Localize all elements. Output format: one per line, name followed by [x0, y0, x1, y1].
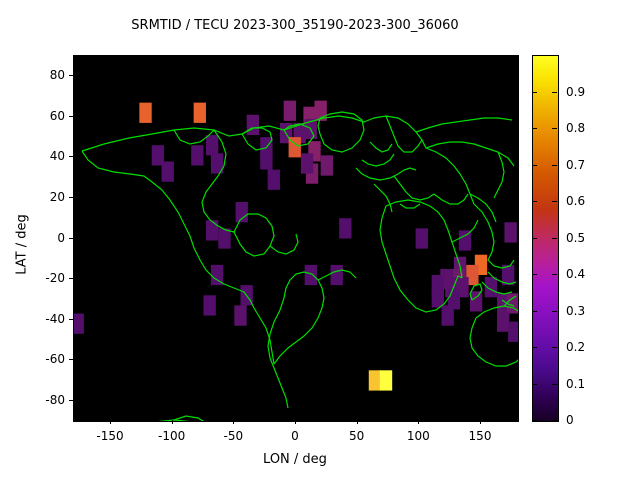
heatmap-cell	[234, 305, 246, 325]
x-axis-label: LON / deg	[73, 452, 517, 467]
colorbar-tick-mark	[552, 384, 557, 385]
heatmap-cell	[331, 265, 343, 285]
y-tick-label: 80	[23, 68, 65, 82]
x-tick-label: -100	[158, 429, 185, 443]
heatmap-cell	[470, 291, 482, 311]
x-tick-label: 150	[469, 429, 492, 443]
heatmap-cell	[416, 228, 428, 248]
colorbar-tick-mark	[532, 384, 537, 385]
colorbar-tick-label: 0.4	[566, 267, 585, 281]
heatmap-cell	[497, 312, 509, 332]
colorbar-tick-label: 0.3	[566, 304, 585, 318]
colorbar-tick-label: 0.2	[566, 340, 585, 354]
colorbar-tick-mark	[532, 165, 537, 166]
colorbar-tick-mark	[552, 274, 557, 275]
colorbar-tick-mark	[552, 311, 557, 312]
colorbar-tick-label: 0.1	[566, 377, 585, 391]
colorbar-tick-mark	[532, 201, 537, 202]
colorbar-tick-mark	[532, 128, 537, 129]
y-tick-mark	[69, 116, 73, 117]
colorbar-tick-mark	[552, 201, 557, 202]
colorbar-tick-label: 0.8	[566, 121, 585, 135]
x-tick-label: 0	[291, 429, 299, 443]
colorbar-gradient	[533, 56, 558, 421]
heatmap-cell	[152, 145, 164, 165]
heatmap-cell	[369, 370, 381, 390]
y-tick-mark	[69, 359, 73, 360]
colorbar-tick-label: 0	[566, 413, 574, 427]
heatmap-cell	[305, 265, 317, 285]
x-tick-label: -150	[96, 429, 123, 443]
colorbar-tick-mark	[552, 128, 557, 129]
heatmap-cell	[194, 103, 206, 123]
colorbar-tick-label: 0.5	[566, 231, 585, 245]
x-tick-mark	[418, 420, 419, 424]
colorbar-tick-mark	[532, 92, 537, 93]
y-tick-label: -80	[23, 393, 65, 407]
map-plot-area	[73, 55, 519, 422]
y-tick-label: -40	[23, 312, 65, 326]
colorbar-tick-mark	[532, 347, 537, 348]
y-tick-mark	[69, 400, 73, 401]
x-tick-mark	[480, 420, 481, 424]
x-tick-label: -50	[224, 429, 244, 443]
map-svg	[74, 56, 518, 421]
heatmap-cell	[204, 295, 216, 315]
heatmap-cell	[321, 155, 333, 175]
x-tick-mark	[172, 420, 173, 424]
y-tick-mark	[69, 156, 73, 157]
y-tick-mark	[69, 197, 73, 198]
heatmap-cell	[339, 218, 351, 238]
heatmap-cell	[301, 153, 313, 173]
heatmap-cell	[504, 222, 516, 242]
heatmap-cell	[284, 101, 296, 121]
y-tick-label: 60	[23, 109, 65, 123]
colorbar	[532, 55, 559, 422]
coastline-group	[74, 112, 518, 421]
colorbar-tick-mark	[552, 347, 557, 348]
heatmap-cell	[74, 314, 84, 334]
heatmap-cell	[191, 145, 203, 165]
heatmap-cell	[442, 305, 454, 325]
colorbar-tick-mark	[532, 274, 537, 275]
heatmap-cell	[139, 103, 151, 123]
colorbar-tick-label: 0.9	[566, 85, 585, 99]
colorbar-tick-mark	[552, 238, 557, 239]
y-tick-mark	[69, 238, 73, 239]
y-tick-label: 40	[23, 149, 65, 163]
heatmap-cell	[218, 228, 230, 248]
x-tick-label: 50	[349, 429, 364, 443]
heatmap-cell	[247, 115, 259, 135]
figure-canvas: SRMTID / TECU 2023-300_35190-2023-300_36…	[0, 0, 640, 480]
x-tick-mark	[357, 420, 358, 424]
colorbar-tick-label: 0.7	[566, 158, 585, 172]
colorbar-tick-mark	[552, 92, 557, 93]
y-tick-mark	[69, 319, 73, 320]
heatmap-cell	[206, 135, 218, 155]
heatmap-cell	[432, 287, 444, 307]
colorbar-tick-mark	[532, 311, 537, 312]
heatmap-cell	[380, 370, 392, 390]
x-tick-mark	[295, 420, 296, 424]
y-tick-label: -60	[23, 352, 65, 366]
y-tick-mark	[69, 75, 73, 76]
colorbar-tick-label: 0.6	[566, 194, 585, 208]
x-tick-mark	[110, 420, 111, 424]
colorbar-tick-mark	[552, 420, 557, 421]
x-tick-label: 100	[407, 429, 430, 443]
colorbar-tick-mark	[552, 165, 557, 166]
x-tick-mark	[233, 420, 234, 424]
heatmap-cell	[268, 170, 280, 190]
heatmap-cell	[508, 322, 518, 342]
colorbar-tick-mark	[532, 238, 537, 239]
y-tick-mark	[69, 278, 73, 279]
heatmap-cell	[206, 220, 218, 240]
page-title: SRMTID / TECU 2023-300_35190-2023-300_36…	[0, 18, 590, 33]
y-axis-label: LAT / deg	[15, 185, 30, 305]
colorbar-tick-mark	[532, 420, 537, 421]
